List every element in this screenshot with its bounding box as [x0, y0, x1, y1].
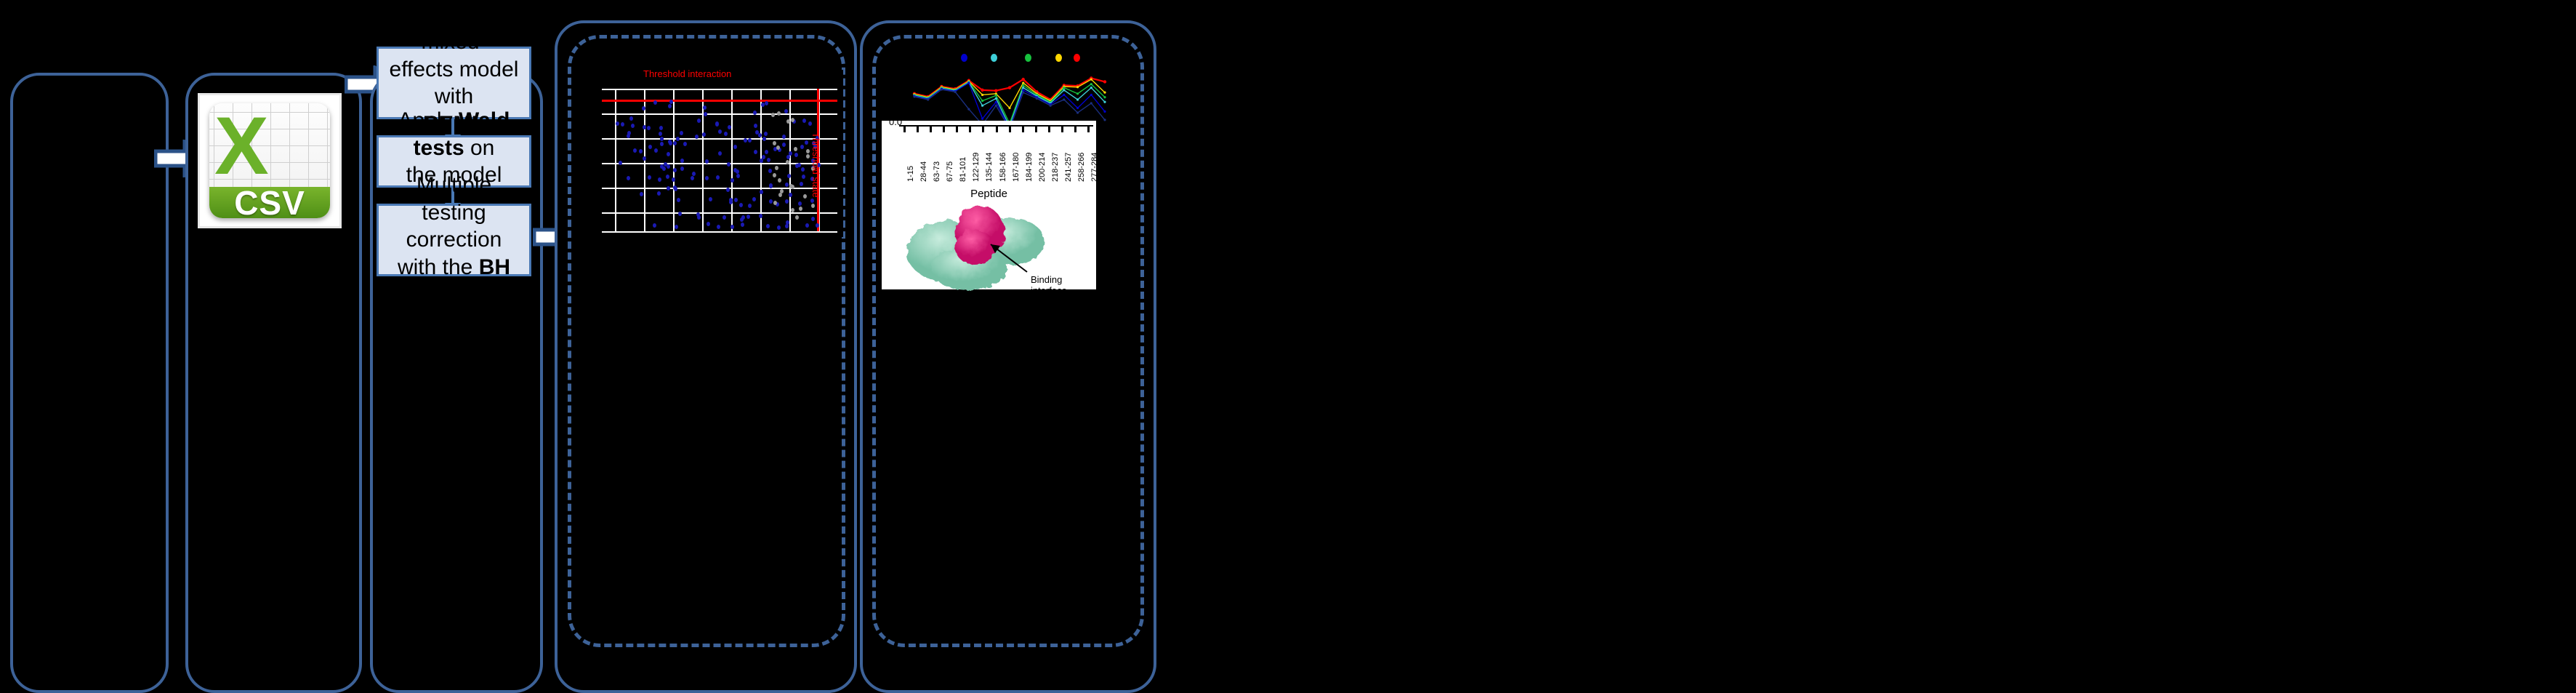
- scatter-point-nonsignificant: [791, 185, 794, 189]
- scatter-point-significant: [642, 106, 645, 111]
- scatter-point-significant: [692, 172, 696, 176]
- scatter-point-significant: [760, 190, 763, 194]
- line-point: [1103, 101, 1106, 103]
- line-point: [1090, 87, 1092, 89]
- line-point: [1022, 84, 1024, 87]
- scatter-point-significant: [647, 126, 651, 130]
- gridline-h: [602, 188, 837, 189]
- line-point: [1076, 107, 1079, 109]
- x-axis-tick: [1074, 127, 1076, 132]
- scatter-point-significant: [764, 132, 768, 136]
- x-axis-tick: [1048, 127, 1050, 132]
- scatter-point-significant: [802, 175, 805, 179]
- scatter-point-significant: [674, 187, 677, 191]
- scatter-point-significant: [648, 145, 652, 149]
- line-point: [1103, 92, 1106, 94]
- x-axis-tick: [930, 127, 932, 132]
- step-model-line2: effects model with: [390, 57, 519, 109]
- scatter-point-significant: [657, 191, 661, 196]
- x-axis-tick: [1009, 127, 1011, 132]
- scatter-point-significant: [672, 177, 675, 182]
- scatter-point-significant: [798, 201, 802, 206]
- scatter-point-significant: [619, 161, 622, 165]
- step-wald-suffix: on: [464, 136, 495, 160]
- scatter-point-significant: [789, 193, 792, 197]
- gridline-h: [602, 231, 837, 233]
- line-point: [1050, 105, 1052, 107]
- scatter-point-nonsignificant: [771, 113, 775, 117]
- scatter-point-significant: [810, 199, 814, 203]
- scatter-point-significant: [723, 215, 726, 220]
- scatter-point-significant: [660, 142, 664, 146]
- step-bh-line2: correction: [406, 228, 502, 252]
- step-bh-line1: Multiple testing: [416, 173, 491, 225]
- line-point: [1076, 86, 1079, 88]
- line-point: [1090, 79, 1092, 81]
- line-point: [967, 108, 970, 111]
- line-point: [1090, 102, 1092, 104]
- step-bh-keyword: BH: [479, 255, 510, 279]
- line-point: [941, 88, 943, 90]
- x-axis-tick-label: 28-44: [919, 161, 928, 182]
- scatter-point-significant: [802, 119, 806, 123]
- x-axis-tick: [1061, 127, 1063, 132]
- x-axis-tick: [917, 127, 919, 132]
- x-axis-tick-label: 277-284: [1090, 153, 1099, 182]
- stage-input-panel: [10, 73, 169, 693]
- scatter-point-nonsignificant: [794, 147, 797, 151]
- gridline-h: [602, 138, 837, 140]
- x-axis-tick-labels: 1-1528-4463-7367-7581-101122-129135-1441…: [899, 138, 1093, 185]
- scatter-point-significant: [754, 124, 757, 128]
- csv-file-icon: X CSV: [198, 93, 342, 228]
- x-axis-tick: [1035, 127, 1037, 132]
- scatter-point-significant: [767, 158, 770, 162]
- scatter-title: Threshold interaction: [643, 68, 731, 79]
- scatter-point-significant: [785, 199, 789, 204]
- scatter-point-significant: [800, 182, 803, 186]
- scatter-point-significant: [744, 138, 747, 143]
- scatter-point-significant: [734, 198, 738, 202]
- line-point: [981, 118, 983, 120]
- scatter-point-significant: [667, 152, 670, 156]
- scatter-point-significant: [667, 164, 670, 169]
- scatter-point-significant: [782, 143, 786, 147]
- scatter-point-significant: [703, 105, 707, 110]
- scatter-point-significant: [673, 168, 677, 172]
- scatter-point-significant: [769, 199, 773, 204]
- scatter-point-significant: [633, 148, 637, 153]
- x-axis-tick-label: 241-257: [1064, 153, 1073, 182]
- scatter-point-significant: [741, 215, 745, 220]
- scatter-point-significant: [678, 212, 682, 216]
- x-axis-tick-label: 67-75: [946, 161, 954, 182]
- x-axis-tick: [903, 127, 906, 132]
- x-axis-tick: [956, 127, 958, 132]
- x-axis-tick-label: 63-73: [933, 161, 941, 182]
- scatter-point-significant: [726, 188, 730, 192]
- csv-label-band: CSV: [209, 187, 329, 218]
- scatter-point-significant: [754, 150, 757, 154]
- scatter-point-significant: [660, 137, 664, 141]
- scatter-point-nonsignificant: [778, 178, 781, 183]
- scatter-point-nonsignificant: [799, 207, 802, 211]
- scatter-point-significant: [741, 223, 744, 227]
- scatter-point-significant: [739, 203, 743, 207]
- line-point: [927, 98, 929, 100]
- scatter-point-nonsignificant: [791, 208, 794, 212]
- x-axis-tick: [943, 127, 945, 132]
- scatter-point-significant: [705, 159, 709, 164]
- line-point: [1022, 81, 1024, 84]
- scatter-point-significant: [643, 125, 646, 129]
- x-axis-tick-label: 158-166: [999, 153, 1007, 182]
- scatter-point-nonsignificant: [773, 141, 776, 145]
- line-point: [1063, 98, 1065, 100]
- x-axis-tick-label: 81-101: [959, 157, 967, 182]
- x-axis-tick-label: 167-180: [1012, 153, 1021, 182]
- scatter-point-significant: [724, 132, 728, 136]
- x-axis-tick-label: 258-266: [1077, 153, 1086, 182]
- scatter-point-significant: [718, 151, 722, 156]
- line-point: [981, 89, 983, 92]
- line-point: [1090, 83, 1092, 85]
- line-point: [1022, 78, 1025, 81]
- scatter-point-significant: [789, 151, 792, 156]
- csv-label-text: CSV: [234, 183, 305, 218]
- scatter-point-significant: [746, 215, 750, 219]
- gridline-v: [702, 89, 704, 231]
- scatter-point-significant: [730, 225, 734, 229]
- x-axis-tick: [969, 127, 971, 132]
- scatter-point-significant: [658, 177, 661, 182]
- binding-interface-annotation: Binding interface: [1031, 275, 1067, 297]
- line-point: [1103, 80, 1106, 83]
- scatter-point-significant: [631, 124, 635, 128]
- scatter-point-nonsignificant: [775, 166, 778, 170]
- scatter-point-nonsignificant: [803, 194, 807, 199]
- peptide-axis-card: 0.0 1-1528-4463-7367-7581-101122-129135-…: [882, 121, 1096, 289]
- line-point: [995, 105, 997, 107]
- line-point: [995, 95, 997, 97]
- scatter-point-significant: [727, 162, 730, 167]
- scatter-point-significant: [640, 192, 643, 196]
- line-point: [995, 101, 997, 103]
- scatter-point-nonsignificant: [811, 204, 815, 208]
- line-point: [981, 100, 983, 102]
- scatter-point-significant: [718, 129, 722, 134]
- line-point: [1022, 92, 1024, 94]
- x-axis-tick-label: 200-214: [1038, 153, 1047, 182]
- scatter-point-significant: [667, 186, 670, 191]
- scatter-point-nonsignificant: [806, 149, 810, 153]
- csv-icon-body: X CSV: [209, 103, 329, 218]
- line-point: [1036, 97, 1038, 100]
- step-wald-prefix: Apply: [398, 108, 459, 132]
- scatter-point-significant: [668, 104, 672, 108]
- step-box-bh: Multiple testing correction with the BH …: [377, 204, 531, 276]
- scatter-point-significant: [785, 183, 789, 187]
- scatter-point-significant: [659, 132, 662, 136]
- line-point: [981, 105, 983, 107]
- line-point: [1008, 107, 1010, 109]
- scatter-point-significant: [621, 122, 624, 127]
- scatter-point-significant: [784, 109, 788, 113]
- scatter-point-significant: [683, 142, 687, 146]
- scatter-point-significant: [666, 175, 669, 179]
- scatter-point-nonsignificant: [773, 201, 777, 205]
- gridline-h: [602, 163, 837, 164]
- line-point: [954, 91, 957, 93]
- scatter-point-significant: [643, 156, 646, 161]
- scatter-point-significant: [768, 169, 772, 173]
- x-axis-tick-label: 122-129: [972, 153, 981, 182]
- line-point: [1008, 86, 1011, 89]
- scatter-point-significant: [691, 176, 694, 180]
- step-bh-suffix: procedure: [405, 282, 503, 306]
- scatter-point-significant: [736, 169, 739, 174]
- line-point: [994, 89, 997, 92]
- line-point: [1103, 119, 1106, 121]
- scatter-point-significant: [800, 145, 804, 149]
- x-axis-tick: [1087, 127, 1090, 132]
- scatter-grid: [602, 89, 837, 231]
- gridline-v: [731, 89, 733, 231]
- line-point: [913, 95, 915, 97]
- scatter-point-significant: [794, 153, 798, 157]
- scatter-point-significant: [705, 176, 709, 180]
- scatter-point-significant: [733, 145, 737, 149]
- scatter-point-significant: [748, 138, 752, 143]
- line-point: [1090, 94, 1092, 96]
- scatter-point-significant: [752, 197, 756, 201]
- line-point: [1103, 111, 1106, 113]
- scatter-point-significant: [697, 119, 701, 123]
- scatter-point-significant: [730, 178, 734, 183]
- scatter-point-significant: [704, 112, 707, 116]
- line-point: [1063, 87, 1065, 89]
- scatter-point-significant: [627, 131, 631, 135]
- x-axis-tick: [982, 127, 984, 132]
- scatter-point-significant: [709, 197, 712, 201]
- x-axis-tick-label: 218-237: [1051, 153, 1060, 182]
- scatter-point-significant: [715, 122, 719, 127]
- x-axis-title: Peptide: [882, 188, 1096, 200]
- csv-x-letter: X: [214, 105, 269, 187]
- gridline-v: [615, 89, 616, 231]
- scatter-point-significant: [805, 223, 809, 228]
- scatter-point-significant: [654, 148, 658, 153]
- line-point: [1103, 96, 1106, 98]
- scatter-point-significant: [653, 100, 657, 105]
- scatter-point-significant: [785, 224, 789, 228]
- line-point: [1063, 94, 1065, 96]
- scatter-point-significant: [669, 100, 673, 104]
- line-point: [1063, 89, 1065, 91]
- line-point: [995, 97, 997, 100]
- x-axis-ticks: [899, 127, 1093, 137]
- scatter-point-significant: [677, 198, 680, 202]
- line-point: [981, 94, 983, 96]
- scatter-point-nonsignificant: [786, 119, 790, 124]
- gridline-h: [602, 89, 837, 90]
- scatter-point-significant: [702, 132, 706, 137]
- line-point: [1076, 98, 1079, 100]
- scatter-point-significant: [805, 140, 808, 145]
- gridline-h: [602, 113, 837, 115]
- scatter-point-significant: [696, 212, 700, 217]
- line-point: [1022, 87, 1024, 89]
- scatter-point-significant: [761, 103, 765, 107]
- step-model-line1: Fit a linear mixed-: [403, 3, 504, 55]
- scatter-point-significant: [627, 176, 630, 180]
- scatter-point-significant: [765, 150, 768, 154]
- scatter-point-nonsignificant: [780, 189, 784, 193]
- scatter-point-significant: [680, 131, 683, 135]
- line-point: [1022, 89, 1024, 91]
- scatter-point-significant: [707, 222, 710, 226]
- threshold-interaction-line: [602, 100, 837, 102]
- x-axis-tick-label: 1-15: [906, 166, 915, 182]
- scatter-point-nonsignificant: [777, 111, 781, 116]
- scatter-plot: Threshold interaction Threshold state: [596, 70, 843, 237]
- scatter-point-significant: [629, 116, 633, 121]
- x-axis-tick: [996, 127, 998, 132]
- line-point: [1076, 111, 1079, 113]
- x-axis-tick-label: 135-144: [985, 153, 994, 182]
- gridline-v: [673, 89, 675, 231]
- scatter-point-significant: [801, 167, 805, 172]
- line-point: [1076, 92, 1079, 95]
- scatter-point-significant: [748, 204, 752, 208]
- scatter-point-significant: [797, 163, 801, 167]
- scatter-point-significant: [760, 159, 763, 163]
- scatter-point-significant: [673, 141, 677, 145]
- step-bh-prefix: with the: [398, 255, 479, 279]
- x-axis-tick: [1022, 127, 1024, 132]
- scatter-point-significant: [716, 175, 720, 180]
- scatter-point-nonsignificant: [806, 154, 810, 159]
- scatter-point-significant: [616, 121, 619, 126]
- scatter-point-significant: [676, 137, 680, 141]
- scatter-point-significant: [680, 167, 684, 171]
- scatter-point-significant: [762, 137, 766, 141]
- scatter-point-significant: [787, 174, 791, 178]
- scatter-point-significant: [653, 223, 656, 228]
- scatter-point-significant: [675, 225, 678, 229]
- scatter-point-significant: [729, 200, 733, 204]
- scatter-point-significant: [736, 174, 740, 178]
- scatter-point-significant: [639, 149, 643, 153]
- binding-annot-line2: interface: [1031, 285, 1067, 296]
- line-series-t2: [914, 79, 1105, 108]
- scatter-point-significant: [669, 141, 672, 145]
- scatter-point-significant: [811, 217, 815, 221]
- scatter-point-significant: [766, 224, 770, 228]
- binding-annot-line1: Binding: [1031, 274, 1062, 285]
- scatter-point-significant: [659, 126, 663, 130]
- scatter-point-significant: [777, 225, 781, 230]
- gridline-h: [602, 212, 837, 214]
- scatter-point-significant: [717, 225, 720, 229]
- threshold-state-label: Threshold state: [810, 132, 821, 198]
- scatter-point-significant: [648, 175, 651, 180]
- scatter-point-nonsignificant: [795, 215, 799, 220]
- line-point: [967, 81, 970, 84]
- scatter-point-nonsignificant: [773, 173, 776, 177]
- scatter-point-significant: [759, 214, 762, 218]
- x-axis-tick-label: 184-199: [1025, 153, 1034, 182]
- scatter-point-significant: [808, 121, 812, 126]
